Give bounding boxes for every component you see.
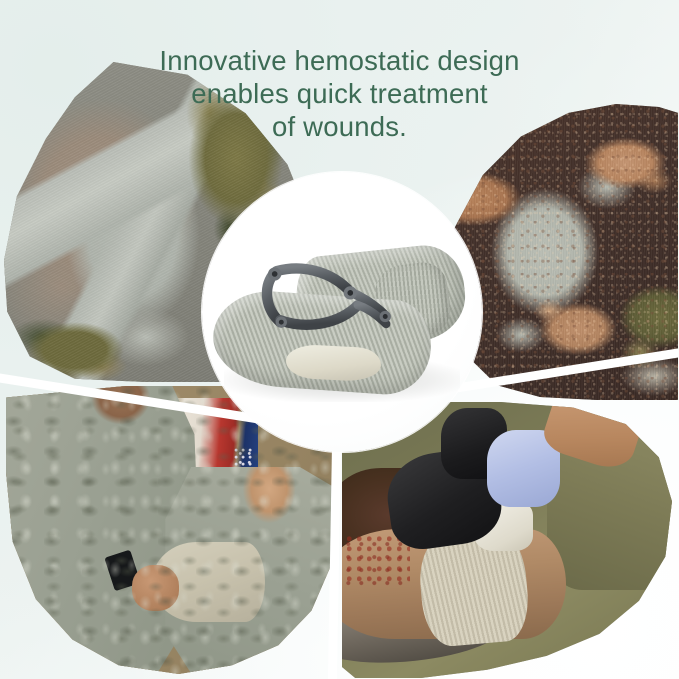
product-image: [202, 172, 482, 452]
product-hero-circle: [202, 172, 482, 452]
applicator-clip-icon: [252, 250, 403, 345]
medic-hand: [132, 565, 178, 611]
gauze-inner-fold: [285, 343, 382, 382]
product-infographic: Innovative hemostatic design enables qui…: [0, 0, 679, 679]
